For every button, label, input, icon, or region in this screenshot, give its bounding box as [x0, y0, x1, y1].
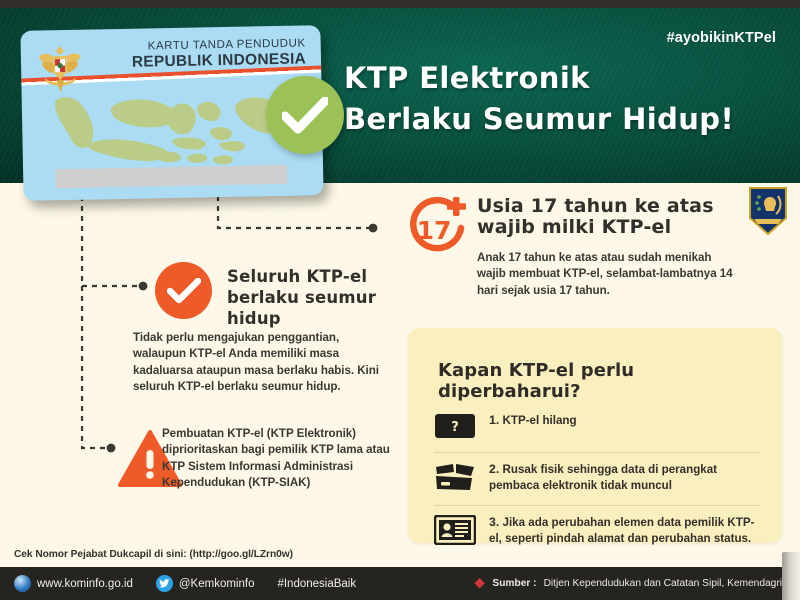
list-item: 3. Jika ada perubahan elemen data pemili…: [434, 505, 760, 558]
page-footer: www.kominfo.go.id @Kemkominfo #Indonesia…: [0, 567, 800, 600]
age-17-plus-badge-icon: 17: [405, 194, 471, 256]
source-marker-icon: ❖: [474, 577, 486, 590]
footer-website-label: www.kominfo.go.id: [37, 578, 133, 590]
list-item-label: Jika ada perubahan elemen data pemilik K…: [489, 516, 754, 545]
list-item-number: 1.: [489, 413, 499, 427]
footer-source-value: Ditjen Kependudukan dan Catatan Sipil, K…: [544, 578, 782, 589]
page-title-line1: KTP Elektronik: [344, 61, 590, 95]
point-lifetime-heading-line2: berlaku seumur hidup: [227, 288, 376, 328]
renew-list: ? 1. KTP-el hilang 2. Rusak fisik sehing…: [434, 404, 760, 558]
id-card-photo-icon: [434, 514, 476, 550]
point-lifetime-heading-line1: Seluruh KTP-el: [227, 267, 367, 286]
header-hashtag: #ayobikinKTPel: [667, 30, 776, 46]
renew-panel: Kapan KTP-el perlu diperbaharui? ? 1. KT…: [408, 328, 782, 543]
dukcapil-note: Cek Nomor Pejabat Dukcapil di sini: (htt…: [14, 549, 293, 560]
footer-edge-tab: [782, 552, 800, 600]
question-card-icon: ?: [434, 412, 476, 444]
footer-source: ❖ Sumber : Ditjen Kependudukan dan Catat…: [474, 567, 782, 600]
ktp-card: KARTU TANDA PENDUDUK REPUBLIK INDONESIA: [22, 28, 322, 198]
svg-text:?: ?: [451, 420, 459, 435]
list-item: ? 1. KTP-el hilang: [434, 404, 760, 452]
card-title: KARTU TANDA PENDUDUK REPUBLIK INDONESIA: [131, 37, 306, 71]
top-accent-strip: [0, 0, 800, 8]
broken-card-icon: [434, 461, 476, 497]
footer-twitter-label: @Kemkominfo: [179, 578, 255, 590]
point-age-heading-line1: Usia 17 tahun ke atas: [477, 195, 714, 217]
svg-text:17: 17: [417, 216, 452, 245]
page-title: KTP Elektronik Berlaku Seumur Hidup!: [344, 58, 734, 140]
list-item-number: 3.: [489, 515, 499, 529]
point-lifetime-body: Tidak perlu mengajukan penggantian, wala…: [133, 330, 395, 396]
list-item-text: 3. Jika ada perubahan elemen data pemili…: [489, 514, 760, 547]
point-age-heading-line2: wajib milki KTP-el: [477, 216, 671, 238]
card-mrz-strip: [55, 165, 287, 188]
kominfo-logo-icon: [14, 575, 31, 592]
footer-twitter[interactable]: @Kemkominfo: [156, 575, 255, 592]
orange-check-circle-icon: [155, 262, 212, 319]
list-item-label: Rusak fisik sehingga data di perangkat p…: [489, 463, 717, 492]
point-lifetime-heading: Seluruh KTP-el berlaku seumur hidup: [227, 266, 407, 329]
point-age-body: Anak 17 tahun ke atas atau sudah menikah…: [477, 250, 739, 299]
list-item-text: 1. KTP-el hilang: [489, 412, 577, 429]
list-item-number: 2.: [489, 462, 499, 476]
twitter-bird-icon: [156, 575, 173, 592]
footer-website[interactable]: www.kominfo.go.id: [14, 575, 133, 592]
list-item-text: 2. Rusak fisik sehingga data di perangka…: [489, 461, 760, 494]
footer-source-label: Sumber :: [492, 578, 536, 589]
point-age-heading: Usia 17 tahun ke atas wajib milki KTP-el: [477, 196, 732, 238]
indonesia-map-icon: [47, 82, 299, 175]
renew-panel-title: Kapan KTP-el perlu diperbaharui?: [438, 360, 782, 402]
footer-hashtag-label: #IndonesiaBaik: [277, 578, 356, 590]
page-title-line2: Berlaku Seumur Hidup!: [344, 99, 734, 140]
green-check-icon: [266, 76, 344, 154]
list-item-label: KTP-el hilang: [503, 414, 577, 427]
card-title-line2: REPUBLIK INDONESIA: [132, 50, 306, 71]
footer-hashtag[interactable]: #IndonesiaBaik: [277, 578, 356, 590]
footer-links: www.kominfo.go.id @Kemkominfo #Indonesia…: [14, 567, 370, 600]
kemendagri-shield-icon: [748, 186, 788, 236]
point-warning-body: Pembuatan KTP-el (KTP Elektronik) diprio…: [162, 426, 402, 492]
list-item: 2. Rusak fisik sehingga data di perangka…: [434, 452, 760, 505]
